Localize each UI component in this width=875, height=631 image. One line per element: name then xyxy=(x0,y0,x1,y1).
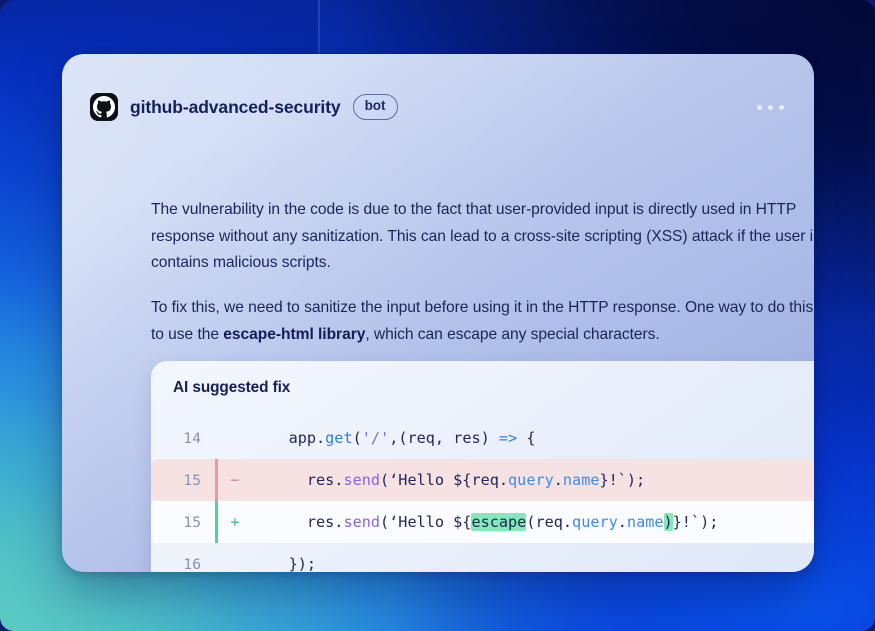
kebab-dot xyxy=(768,105,773,110)
code-diff-body: 14 app.get('/',(req, res) => {15− res.se… xyxy=(151,417,814,572)
diff-sign: + xyxy=(218,513,252,531)
code-line-context: 16 }); xyxy=(151,543,814,572)
escape-html-library-emphasis: escape-html library xyxy=(223,326,365,343)
code-line-context: 14 app.get('/',(req, res) => { xyxy=(151,417,814,459)
diff-sign: − xyxy=(218,471,252,489)
code-line-addition: 15+ res.send(‘Hello ${escape(req.query.n… xyxy=(151,501,814,543)
github-octocat-icon xyxy=(90,93,118,121)
line-number: 15 xyxy=(151,514,201,531)
kebab-menu-icon[interactable] xyxy=(757,105,790,110)
paragraph-fix: To fix this, we need to sanitize the inp… xyxy=(151,295,814,348)
screenshot-stage: github-advanced-security bot The vulnera… xyxy=(0,0,875,631)
code-line-deletion: 15− res.send(‘Hello ${req.query.name}!`)… xyxy=(151,459,814,501)
author-name: github-advanced-security xyxy=(130,97,341,118)
paragraph-fix-after: , which can escape any special character… xyxy=(365,326,659,343)
code-text: }); xyxy=(252,555,316,572)
paragraph-vulnerability: The vulnerability in the code is due to … xyxy=(151,197,814,277)
line-number: 16 xyxy=(151,556,201,573)
bot-badge: bot xyxy=(353,94,398,119)
comment-card: github-advanced-security bot The vulnera… xyxy=(62,54,814,572)
diff-marker-bar xyxy=(215,543,218,572)
code-text: res.send(‘Hello ${escape(req.query.name)… xyxy=(252,513,718,531)
code-text: app.get('/',(req, res) => { xyxy=(252,429,536,447)
kebab-dot xyxy=(757,105,762,110)
code-panel-title: AI suggested fix xyxy=(173,379,290,397)
ai-suggested-fix-panel: AI suggested fix 14 app.get('/',(req, re… xyxy=(151,361,814,572)
line-number: 14 xyxy=(151,430,201,447)
code-text: res.send(‘Hello ${req.query.name}!`); xyxy=(252,471,645,489)
diff-marker-bar xyxy=(215,417,218,459)
card-header: github-advanced-security bot xyxy=(90,90,790,124)
kebab-dot xyxy=(779,105,784,110)
line-number: 15 xyxy=(151,472,201,489)
